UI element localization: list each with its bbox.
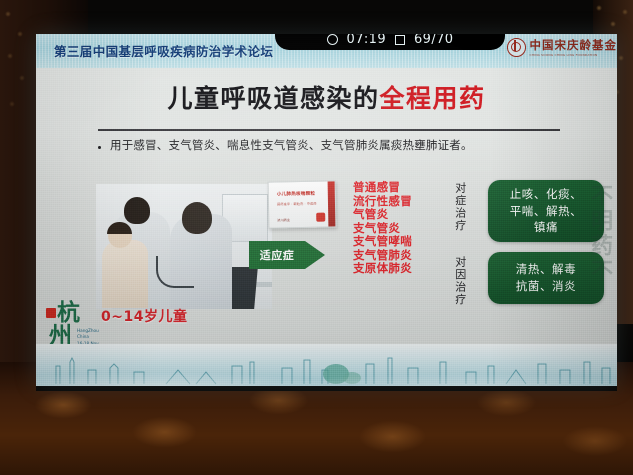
slide-watermark: 不明药不 <box>583 184 615 284</box>
medicine-box-subtitle: 国药准字 · 颗粒剂 · 中成药 <box>277 201 317 207</box>
medicine-box-icon: 小儿肺热咳喘颗粒 国药准字 · 颗粒剂 · 中成药 济川药业 <box>268 180 337 228</box>
slide-title-main: 儿童呼吸道感染的 <box>167 84 379 113</box>
bullet-dot-icon <box>98 146 101 149</box>
medicine-brand: 济川药业 <box>277 217 290 222</box>
list-item: 支原体肺炎 <box>353 262 412 276</box>
skyline-band <box>36 344 617 386</box>
list-item: 气管炎 <box>353 208 412 222</box>
osd-time: 07:19 <box>347 34 386 47</box>
list-item: 流行性感冒 <box>353 195 412 209</box>
projector-osd: 07:19 69/70 <box>275 34 505 50</box>
skyline-wave <box>36 364 617 386</box>
arrow-right-icon <box>305 241 325 269</box>
conference-room-scene: 第三届中国基层呼吸疾病防治学术论坛 中国宋庆龄基金 CHINA SOONG CH… <box>0 0 633 475</box>
osd-page-counter: 69/70 <box>414 34 453 47</box>
sponsor-logo: 中国宋庆龄基金 CHINA SOONG CHING LING FOUNDATIO… <box>507 37 618 57</box>
indication-body: 适应症 <box>249 241 305 269</box>
indication-label: 适应症 <box>260 247 295 263</box>
red-seal-icon <box>46 308 56 318</box>
age-range-label: 0~14岁儿童 <box>101 306 187 326</box>
medicine-box-mark <box>316 213 325 222</box>
photo-parent-head <box>124 197 150 224</box>
clock-icon <box>327 34 338 45</box>
slide-title: 儿童呼吸道感染的全程用药 <box>36 79 617 115</box>
stethoscope-icon <box>156 256 194 288</box>
conference-title: 第三届中国基层呼吸疾病防治学术论坛 <box>54 41 273 60</box>
slide-title-accent: 全程用药 <box>380 84 486 113</box>
sponsor-name-en: CHINA SOONG CHING LING FOUNDATION <box>530 53 618 57</box>
seal-logo-icon <box>507 38 526 57</box>
treatment-label-causal: 对因治疗 <box>453 256 467 316</box>
bullet-text: 用于感冒、支气管炎、喘息性支气管炎、支气管肺炎属痰热壅肺证者。 <box>110 138 473 154</box>
medicine-box-stripe <box>328 181 336 226</box>
disease-list: 普通感冒 流行性感冒 气管炎 支气管炎 支气管哮喘 支气管肺炎 支原体肺炎 <box>353 181 412 276</box>
left-wall-lights <box>0 0 34 150</box>
bullet-row: 用于感冒、支气管炎、喘息性支气管炎、支气管肺炎属痰热壅肺证者。 <box>98 138 598 154</box>
page-icon <box>395 35 405 45</box>
slide-canvas: 第三届中国基层呼吸疾病防治学术论坛 中国宋庆龄基金 CHINA SOONG CH… <box>36 34 617 386</box>
list-item: 支气管炎 <box>353 222 412 236</box>
title-divider <box>98 129 560 131</box>
indication-arrow: 适应症 <box>249 241 325 269</box>
clinic-photo <box>96 184 272 309</box>
list-item: 支气管肺炎 <box>353 249 412 263</box>
medicine-box-title: 小儿肺热咳喘颗粒 <box>277 191 315 198</box>
screen-bezel <box>36 386 617 391</box>
treatment-effects-symptomatic: 止咳、化痰、平喘、解热、镇痛 <box>510 186 583 236</box>
photo-child-body <box>102 240 148 308</box>
treatment-effects-causal: 清热、解毒抗菌、消炎 <box>516 261 577 294</box>
event-logo-char-1: 杭 <box>57 302 80 325</box>
treatment-label-symptomatic: 对症治疗 <box>453 182 467 242</box>
list-item: 普通感冒 <box>353 181 412 195</box>
sponsor-name-cn: 中国宋庆龄基金 <box>530 37 618 53</box>
list-item: 支气管哮喘 <box>353 235 412 249</box>
projection-screen: 第三届中国基层呼吸疾病防治学术论坛 中国宋庆龄基金 CHINA SOONG CH… <box>36 34 617 386</box>
photo-doctor-head <box>182 202 212 234</box>
